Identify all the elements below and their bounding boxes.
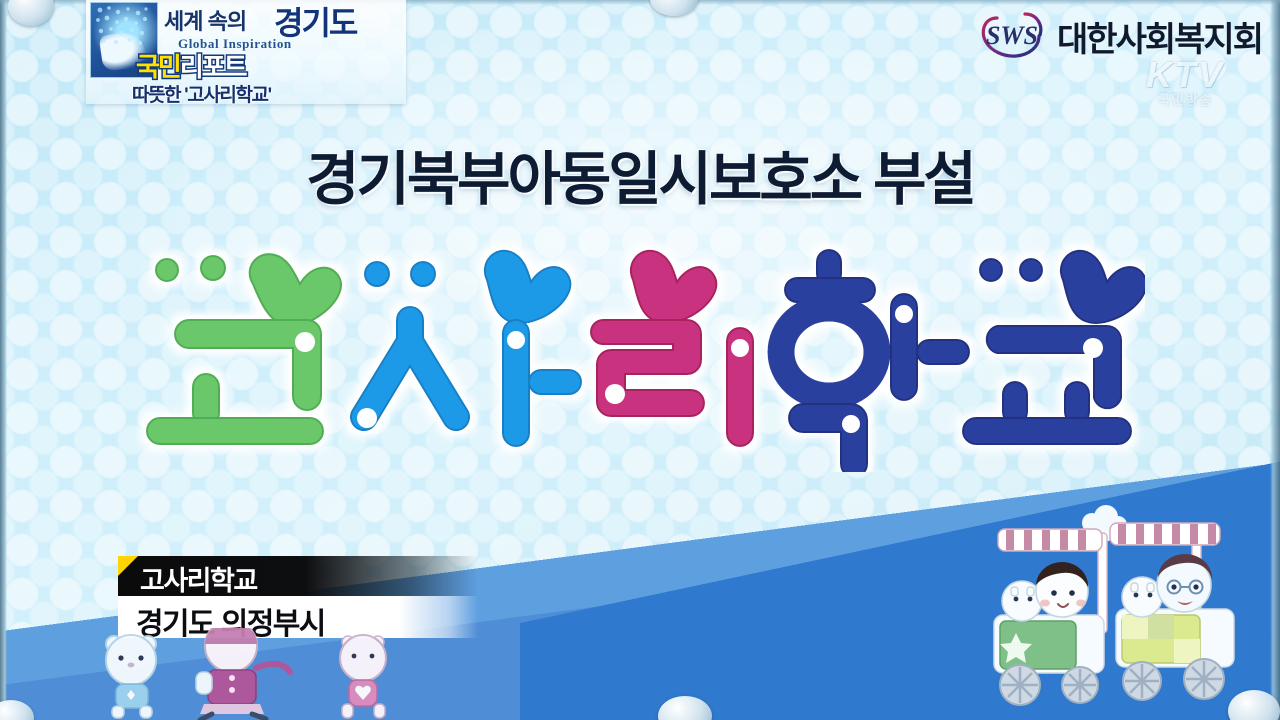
lower-third-title-bar: 고사리학교: [118, 556, 478, 596]
lower-third-title: 고사리학교: [140, 559, 257, 598]
signboard-main-title: [0, 222, 1280, 472]
globe-pattern-icon: [92, 4, 154, 48]
channel-watermark-subtitle: 국민방송: [1146, 90, 1224, 110]
sws-logo-icon: SWS: [977, 8, 1047, 64]
banner-title-small: 세계 속의: [164, 4, 246, 36]
program-banner: 세계 속의 경기도 Global Inspiration 국민리포트 따뜻한 '…: [86, 0, 406, 106]
lower-third-location: 경기도 의정부시: [136, 599, 325, 643]
banner-badge-part2: 리포트: [180, 52, 246, 82]
yellow-corner-marker-icon: [118, 556, 138, 576]
signboard-main-title-art: [135, 222, 1145, 472]
signboard-subtitle: 경기북부아동일시보호소 부설: [0, 132, 1280, 216]
banner-episode-title: 따뜻한 '고사리학교': [132, 80, 271, 107]
broadcast-frame: 세계 속의 경기도 Global Inspiration 국민리포트 따뜻한 '…: [0, 0, 1280, 720]
lower-third-location-bar: 경기도 의정부시: [118, 596, 478, 638]
banner-badge-part1: 국민: [136, 52, 180, 82]
svg-text:SWS: SWS: [986, 21, 1038, 50]
lower-third-caption: 고사리학교 경기도 의정부시: [118, 556, 478, 638]
banner-badge: 국민리포트: [136, 47, 246, 84]
channel-watermark: KTV 국민방송: [1146, 54, 1224, 110]
